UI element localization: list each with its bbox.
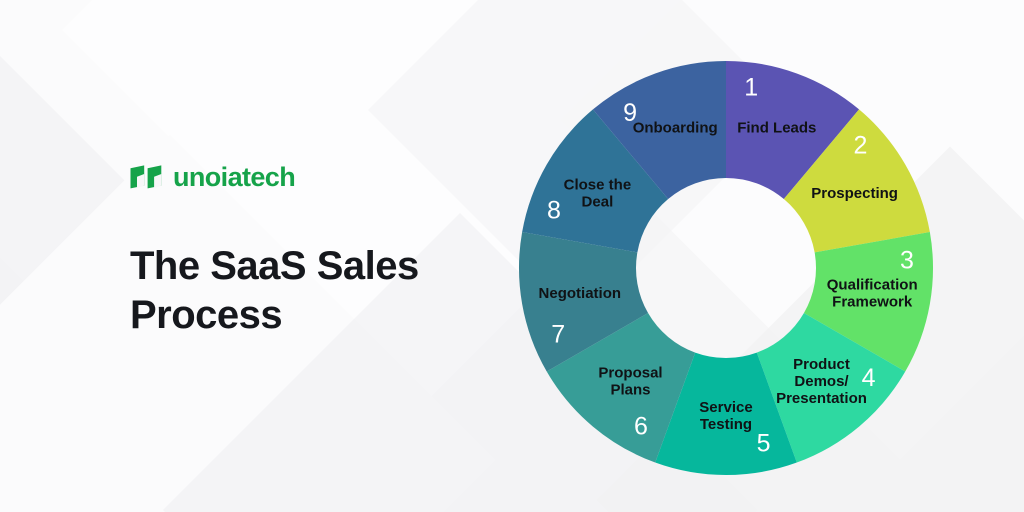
brand-logo: unoiatech [130,160,510,194]
infographic-canvas: unoiatech The SaaS Sales Process Find Le… [0,0,1024,512]
page-title: The SaaS Sales Process [130,242,470,340]
donut-segment-label-5: ServiceTesting [699,399,752,433]
donut-segment-number-2: 2 [854,132,868,160]
donut-segment-label-2: Prospecting [811,185,898,202]
donut-segment-number-7: 7 [551,320,565,348]
donut-segment-number-3: 3 [900,246,914,274]
donut-segment-number-1: 1 [744,73,758,101]
donut-svg: Find Leads1Prospecting2QualificationFram… [496,40,956,500]
donut-segment-number-8: 8 [547,197,561,225]
donut-segment-number-4: 4 [862,364,876,392]
donut-segment-number-5: 5 [757,430,771,458]
sales-process-donut-chart: Find Leads1Prospecting2QualificationFram… [496,40,956,500]
brand-wordmark: unoiatech [173,164,295,191]
donut-segment-number-9: 9 [623,99,637,127]
page-title-line-2: Process [130,293,282,337]
donut-segment-label-1: Find Leads [737,119,816,136]
page-title-line-1: The SaaS Sales [130,244,419,288]
donut-segment-label-7: Negotiation [539,285,622,302]
left-panel: unoiatech The SaaS Sales Process [130,160,510,366]
unoiatech-mark-icon [130,165,164,189]
donut-segment-label-9: Onboarding [633,119,718,136]
donut-segment-label-3: QualificationFramework [827,276,918,310]
donut-segment-number-6: 6 [634,412,648,440]
